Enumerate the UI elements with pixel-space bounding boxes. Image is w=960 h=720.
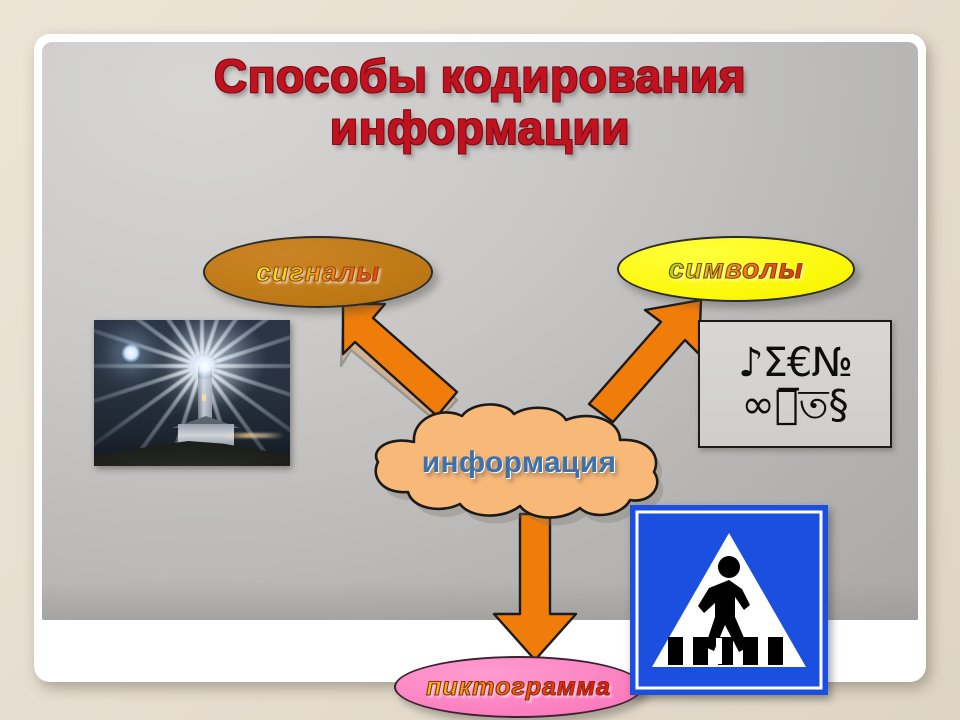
node-signals-label: сигналы bbox=[256, 257, 380, 288]
node-pictogram[interactable]: пиктограмма bbox=[394, 656, 643, 718]
symbols-sample-box: ♪Σ€№ ∞ত̅ত§ bbox=[698, 320, 892, 448]
page-title: Способы кодирования информации bbox=[42, 50, 918, 155]
lighthouse-lamp-glow bbox=[192, 353, 218, 379]
node-symbols[interactable]: символы bbox=[617, 236, 855, 302]
lighthouse-window bbox=[202, 394, 206, 401]
node-pictogram-label: пиктограмма bbox=[426, 673, 611, 702]
slide-stage: Способы кодирования информации bbox=[0, 0, 960, 720]
shore-lights bbox=[222, 433, 284, 438]
pedestrian-crossing-sign bbox=[630, 505, 828, 695]
node-symbols-label: символы bbox=[668, 253, 803, 285]
lighthouse-night-photo bbox=[94, 320, 290, 466]
symbols-row-2: ∞ত̅ত§ bbox=[741, 384, 848, 426]
arrow-down-icon bbox=[490, 514, 580, 662]
symbols-row-1: ♪Σ€№ bbox=[738, 342, 852, 384]
node-signals[interactable]: сигналы bbox=[203, 236, 433, 308]
